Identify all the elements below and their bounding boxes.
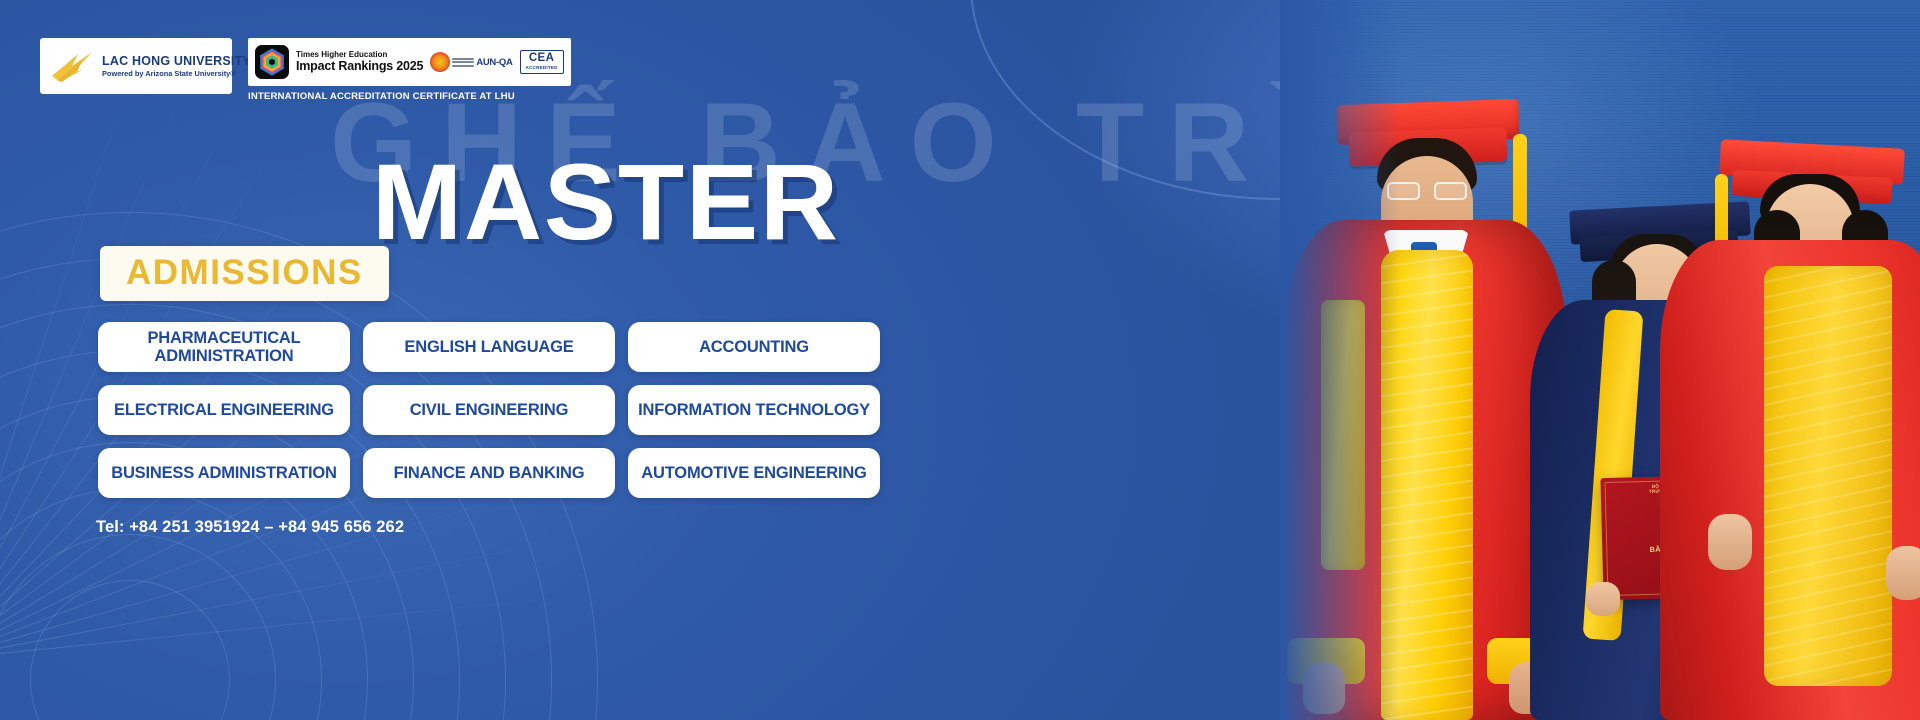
program-label: FINANCE AND BANKING: [394, 464, 585, 482]
program-button[interactable]: ENGLISH LANGUAGE: [363, 322, 615, 372]
the-impact-hexagon-icon: [255, 45, 289, 79]
aun-qa-ring: [430, 52, 450, 72]
program-button[interactable]: AUTOMOTIVE ENGINEERING: [628, 448, 880, 498]
program-button[interactable]: ELECTRICAL ENGINEERING: [98, 385, 350, 435]
program-button[interactable]: PHARMACEUTICALADMINISTRATION: [98, 322, 350, 372]
program-label: ACCOUNTING: [699, 338, 809, 356]
accreditation-card: Times Higher Education Impact Rankings 2…: [248, 38, 571, 86]
program-label-line1: PHARMACEUTICAL: [147, 329, 300, 347]
program-button[interactable]: INFORMATION TECHNOLOGY: [628, 385, 880, 435]
program-label: CIVIL ENGINEERING: [410, 401, 569, 419]
gold-sash: [1321, 300, 1365, 570]
accreditation-block: Times Higher Education Impact Rankings 2…: [248, 38, 571, 102]
program-button[interactable]: BUSINESS ADMINISTRATION: [98, 448, 350, 498]
hand-left: [1708, 514, 1752, 570]
cea-sub-label: ACCREDITED: [526, 66, 558, 71]
glasses-icon: [1387, 182, 1467, 200]
graduation-photo: BỘ GIÁO DỤC VÀ ĐÀO TẠO TRƯỜNG ĐẠI HỌC LẠ…: [1280, 0, 1920, 720]
program-label: AUTOMOTIVE ENGINEERING: [641, 464, 866, 482]
cea-accreditation-icon: CEA ACCREDITED: [520, 50, 564, 74]
header-logo-row: LAC HONG UNIVERSITY Powered by Arizona S…: [40, 38, 571, 102]
program-label-line2: ADMINISTRATION: [147, 347, 300, 365]
program-label: ELECTRICAL ENGINEERING: [114, 401, 334, 419]
university-tagline: Powered by Arizona State University®: [102, 70, 251, 78]
aun-qa-seal-icon: AUN-QA: [430, 47, 512, 77]
program-label: BUSINESS ADMINISTRATION: [111, 464, 337, 482]
gold-stole: [1381, 250, 1473, 720]
program-label: INFORMATION TECHNOLOGY: [638, 401, 870, 419]
degree-headline: MASTER: [372, 148, 840, 256]
aun-qa-label: AUN-QA: [476, 57, 512, 68]
graduate-figure-3: [1650, 60, 1920, 720]
admissions-badge: ADMISSIONS: [100, 246, 389, 301]
university-name: LAC HONG UNIVERSITY: [102, 55, 251, 68]
program-button[interactable]: FINANCE AND BANKING: [363, 448, 615, 498]
program-button[interactable]: ACCOUNTING: [628, 322, 880, 372]
program-list: PHARMACEUTICALADMINISTRATIONENGLISH LANG…: [98, 322, 880, 498]
cea-label: CEA: [526, 53, 558, 65]
gold-stole: [1764, 266, 1892, 686]
admissions-banner: GHẾ BẢO TRÌNH: [0, 0, 1920, 720]
accreditation-caption: INTERNATIONAL ACCREDITATION CERTIFICATE …: [248, 91, 571, 102]
contact-phone: Tel: +84 251 3951924 – +84 945 656 262: [96, 518, 404, 537]
hand-left: [1303, 662, 1345, 714]
university-logo-text: LAC HONG UNIVERSITY Powered by Arizona S…: [102, 55, 251, 78]
program-button[interactable]: CIVIL ENGINEERING: [363, 385, 615, 435]
hand-right: [1886, 546, 1920, 600]
admissions-label: ADMISSIONS: [126, 255, 363, 290]
asu-sunburst-logo-icon: [48, 46, 96, 86]
the-rankings-text: Times Higher Education Impact Rankings 2…: [296, 51, 423, 73]
program-label: PHARMACEUTICALADMINISTRATION: [147, 329, 300, 366]
program-label: ENGLISH LANGUAGE: [404, 338, 573, 356]
university-logo-card: LAC HONG UNIVERSITY Powered by Arizona S…: [40, 38, 232, 94]
degree-label: MASTER: [372, 141, 840, 262]
the-rankings-line2: Impact Rankings 2025: [296, 60, 423, 74]
aun-qa-lines: [452, 58, 474, 67]
